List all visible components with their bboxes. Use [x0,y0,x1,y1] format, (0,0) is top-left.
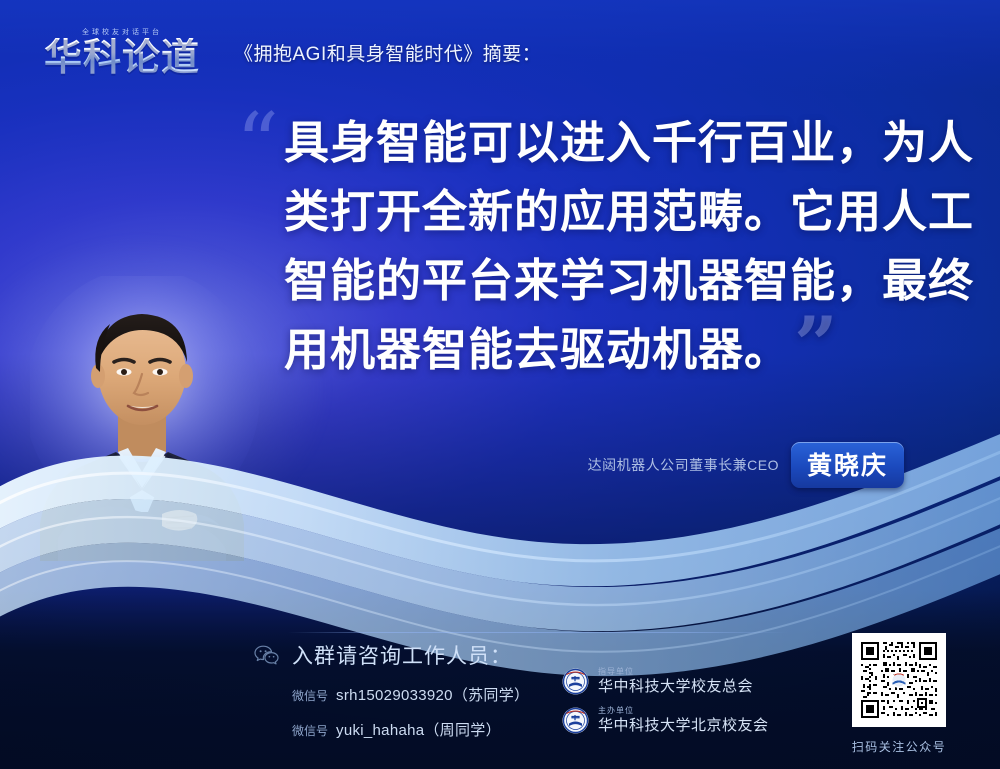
organization-text: 主办单位 华中科技大学北京校友会 [598,707,769,733]
brand-logo-text: 华科论道 [44,38,200,76]
speaker-name-badge: 黄晓庆 [791,442,904,488]
wechat-id[interactable]: srh15029033920（苏同学） [336,684,529,705]
organization-text: 指导单位 华中科技大学校友总会 [598,668,753,694]
organization-name: 华中科技大学校友总会 [598,679,753,695]
organization-kind: 指导单位 [598,668,753,676]
organization-kind: 主办单位 [598,707,769,715]
qr-block: 扫码关注公众号 [843,633,955,755]
page-title: 《拥抱AGI和具身智能时代》摘要： [234,39,541,66]
hust-seal-icon [562,668,589,695]
hust-seal-icon [562,707,589,734]
quote-line: 具身智能可以进入千行百业，为人 [284,108,966,177]
organization-name: 华中科技大学北京校友会 [598,718,769,734]
wechat-label: 微信号 [292,687,328,704]
organization-item: 主办单位 华中科技大学北京校友会 [562,707,769,734]
qr-caption: 扫码关注公众号 [843,738,955,755]
organizations: 指导单位 华中科技大学校友总会 主办单位 华中科技大学北京校友会 [562,668,769,746]
quote-line: 类打开全新的应用范畴。它用人工 [284,177,966,246]
quote-lines: 具身智能可以进入千行百业，为人 类打开全新的应用范畴。它用人工 智能的平台来学习… [284,108,966,384]
poster-canvas: 全球校友对话平台 华科论道 《拥抱AGI和具身智能时代》摘要： “ 具身智能可以… [0,0,1000,769]
quote-line-text: 用机器智能去驱动机器。 [284,323,790,376]
section-divider [288,632,788,633]
quote-line: 智能的平台来学习机器智能，最终 [284,246,966,315]
speaker-role: 达闼机器人公司董事长兼CEO [588,455,779,475]
quote-block: “ 具身智能可以进入千行百业，为人 类打开全新的应用范畴。它用人工 智能的平台来… [236,108,966,384]
organization-item: 指导单位 华中科技大学校友总会 [562,668,769,695]
wechat-label: 微信号 [292,722,328,739]
wechat-icon [254,645,280,665]
qr-code[interactable] [852,633,946,727]
contact-header: 入群请咨询工作人员： [254,640,814,670]
brand-logo[interactable]: 全球校友对话平台 华科论道 [24,16,220,76]
attribution: 达闼机器人公司董事长兼CEO 黄晓庆 [588,442,904,488]
quote-open-icon: “ [236,102,279,186]
contact-title: 入群请咨询工作人员： [292,640,512,670]
header: 全球校友对话平台 华科论道 《拥抱AGI和具身智能时代》摘要： [0,0,1000,92]
quote-line-last: 用机器智能去驱动机器。” [284,315,966,384]
brand-tagline: 全球校友对话平台 [82,27,162,37]
wechat-id[interactable]: yuki_hahaha（周同学） [336,719,501,740]
